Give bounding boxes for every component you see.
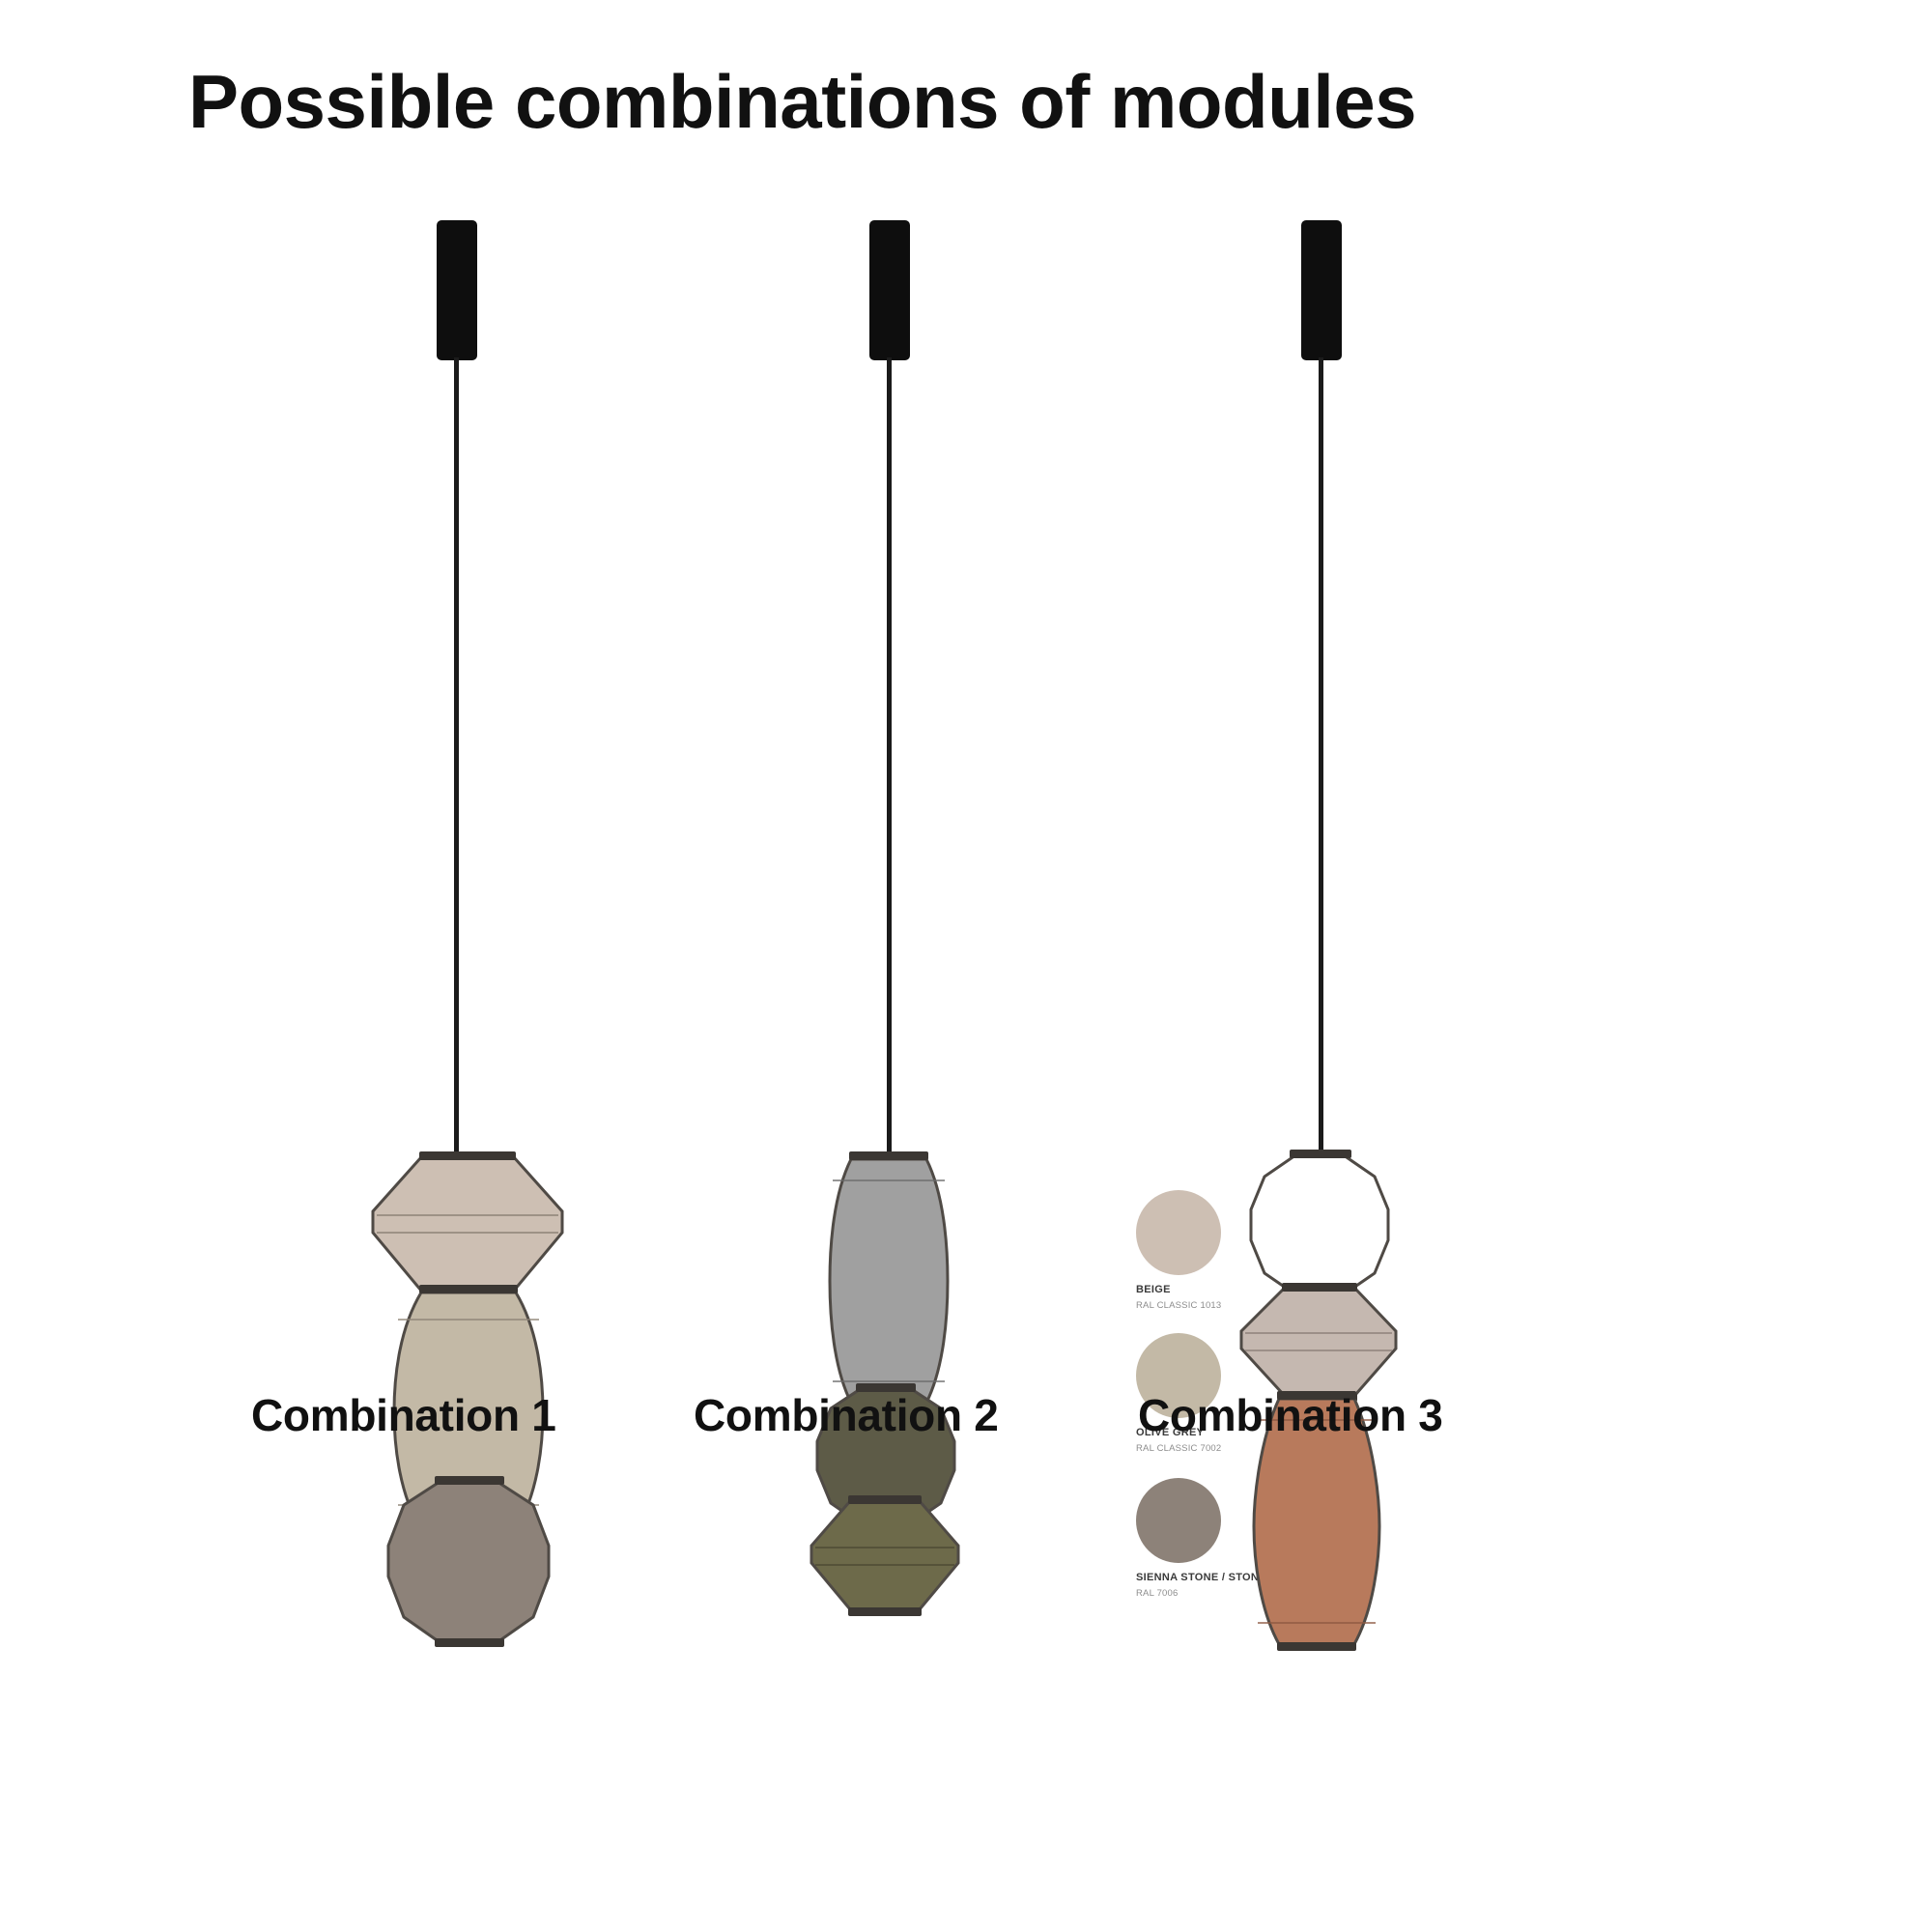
poster-canvas: Possible combinations of modules [0, 0, 1932, 1932]
swatch-dot [1136, 1190, 1221, 1275]
canopy-mount-3 [1301, 220, 1342, 360]
module-sphere-white[interactable] [1241, 1150, 1398, 1302]
module-diamond-sand[interactable] [365, 1151, 570, 1296]
module-capsule-grey[interactable] [816, 1151, 961, 1410]
combination-caption: Combination 2 [694, 1389, 999, 1441]
combination-caption: Combination 3 [1138, 1389, 1443, 1441]
combination-caption: Combination 1 [251, 1389, 556, 1441]
swatch-dot [1136, 1478, 1221, 1563]
suspension-cord-3 [1319, 357, 1323, 1155]
page-title: Possible combinations of modules [188, 58, 1416, 146]
module-diamond-olive[interactable] [804, 1495, 966, 1617]
module-diamond-greige[interactable] [1234, 1283, 1404, 1403]
suspension-cord-2 [887, 357, 892, 1159]
suspension-cord-1 [454, 357, 459, 1159]
module-sphere-taupe[interactable] [379, 1476, 558, 1652]
canopy-mount-1 [437, 220, 477, 360]
canopy-mount-2 [869, 220, 910, 360]
